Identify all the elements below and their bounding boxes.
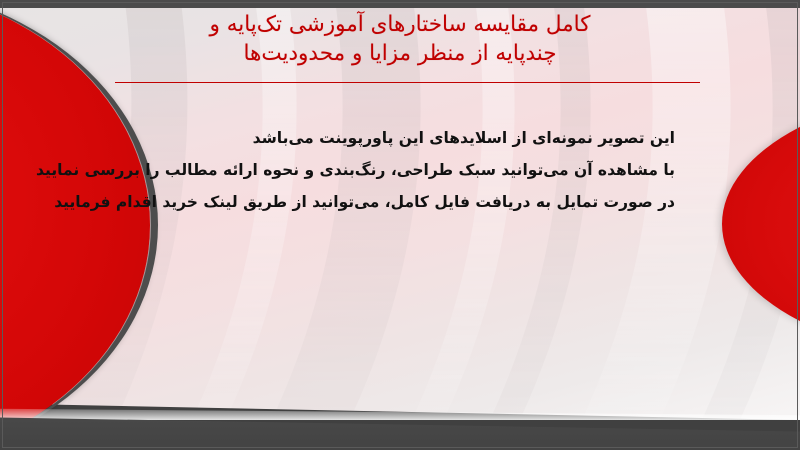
slide-body-line-1: این تصویر نمونه‌ای از اسلایدهای این پاور… bbox=[120, 122, 675, 154]
slide-title-underline bbox=[115, 82, 700, 83]
presentation-slide: کامل مقایسه ساختارهای آموزشی تک‌پایه و چ… bbox=[0, 0, 800, 450]
slide-title: کامل مقایسه ساختارهای آموزشی تک‌پایه و چ… bbox=[90, 10, 710, 68]
slide-body-line-2: با مشاهده آن می‌توانید سبک طراحی، رنگ‌بن… bbox=[120, 154, 675, 186]
slide-body-text: این تصویر نمونه‌ای از اسلایدهای این پاور… bbox=[120, 122, 675, 218]
slide-title-line-1: کامل مقایسه ساختارهای آموزشی تک‌پایه و bbox=[90, 10, 710, 39]
slide-body-line-3: در صورت تمایل به دریافت فایل کامل، می‌تو… bbox=[120, 186, 675, 218]
slide-title-line-2: چندپایه از منظر مزایا و محدودیت‌ها bbox=[90, 39, 710, 68]
